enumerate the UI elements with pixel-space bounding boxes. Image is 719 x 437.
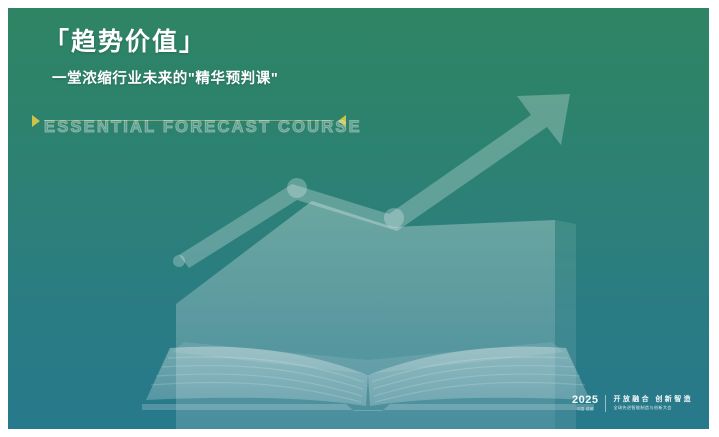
- play-triangle-right-icon: [32, 115, 40, 127]
- page-title-english: ESSENTIAL FORECAST COURSE: [44, 118, 362, 137]
- eyebrow-row: ESSENTIAL FORECAST COURSE: [28, 108, 348, 138]
- heading-block: 「趋势价值」 一堂浓缩行业未来的"精华预判课": [44, 28, 464, 88]
- logo-divider: [605, 395, 606, 412]
- logo-year-block: 2025 中国 成都: [572, 395, 598, 412]
- logo-fullname: 全球先进智能制造与创新大会: [613, 406, 693, 410]
- presentation-slide: 「趋势价值」 一堂浓缩行业未来的"精华预判课" ESSENTIAL FORECA…: [8, 8, 709, 429]
- logo-location: 中国 成都: [577, 408, 594, 412]
- conference-logo: 2025 中国 成都 开放融合 创新智造 全球先进智能制造与创新大会: [572, 395, 693, 412]
- page-title: 「趋势价值」: [44, 28, 464, 57]
- page-subtitle: 一堂浓缩行业未来的"精华预判课": [52, 67, 464, 88]
- logo-year: 2025: [572, 395, 598, 406]
- logo-slogan: 开放融合 创新智造: [613, 396, 693, 403]
- logo-text-block: 开放融合 创新智造 全球先进智能制造与创新大会: [613, 396, 693, 410]
